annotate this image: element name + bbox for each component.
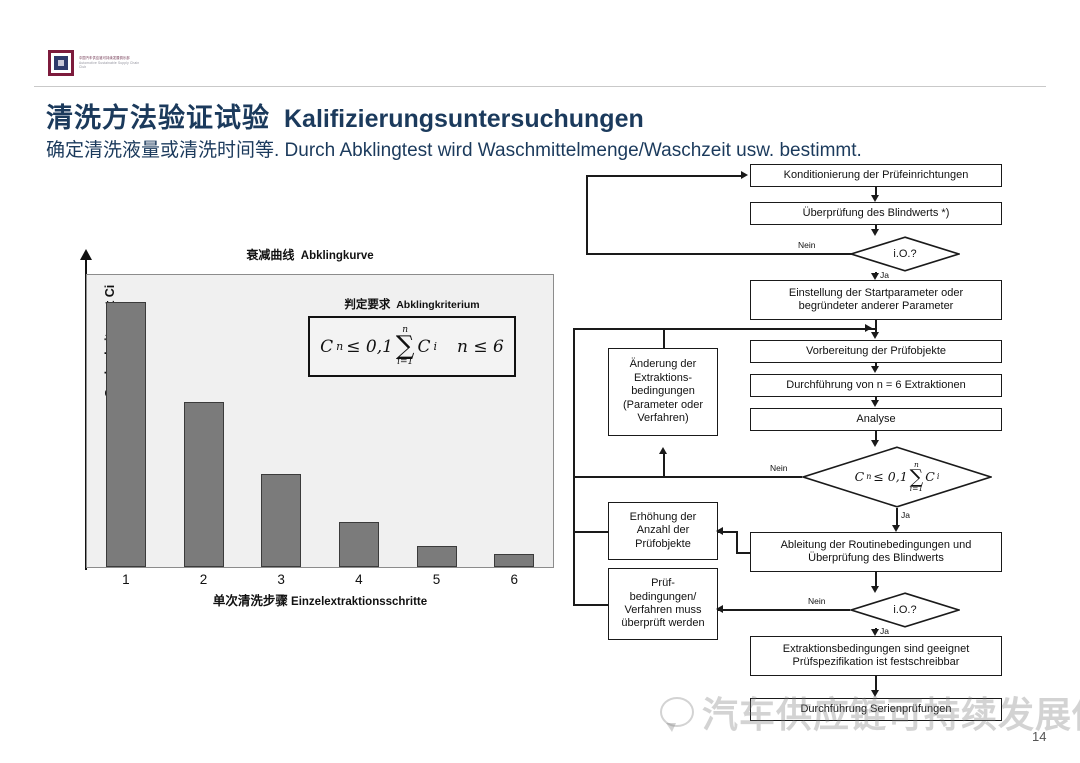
flow-box-pruefbed-line1: Prüf- <box>651 577 675 590</box>
qualification-flowchart: Konditionierung der Prüfeinrichtungen Üb… <box>560 158 1020 718</box>
speech-bubble-icon <box>660 697 694 727</box>
edge-label-ja-3: Ja <box>880 626 889 636</box>
bar-2 <box>184 402 224 567</box>
flow-box-pruefbed-line4: überprüft werden <box>621 617 704 630</box>
x-tick-2: 2 <box>165 572 243 587</box>
flow-box-startparameter: Einstellung der Startparameter oder begr… <box>750 280 1002 320</box>
arrowhead-icon <box>716 527 723 535</box>
edge-label-ja-2: Ja <box>901 510 910 520</box>
bar-slot <box>165 275 243 567</box>
flow-decision-io-2: i.O.? <box>850 592 960 628</box>
connector-d2-to-s1 <box>663 476 802 478</box>
page-title-de: Kalifizierungsuntersuchungen <box>284 105 644 133</box>
x-axis-label-de: Einzelextraktionsschritte <box>291 596 427 608</box>
arrowhead-icon <box>892 525 900 532</box>
flow-box-vorbereitung: Vorbereitung der Prüfobjekte <box>750 340 1002 363</box>
criterion-caption: 判定要求 Abklingkriterium <box>308 296 516 312</box>
edge-label-nein-2: Nein <box>770 463 787 473</box>
connector-left-rail-lower <box>573 476 575 604</box>
flow-box-aenderung-line3: bedingungen <box>631 385 695 398</box>
page-title-cn: 清洗方法验证试验 <box>46 103 270 133</box>
bar-3 <box>261 474 301 567</box>
arrowhead-icon <box>871 273 879 280</box>
flow-box-geeignet-line2: Prüfspezifikation ist festschreibbar <box>793 656 960 669</box>
summation-icon: n ∑ i=1 <box>910 461 924 492</box>
formula-ci-subscript: i <box>434 340 438 353</box>
flow-decision-io-1: i.O.? <box>850 236 960 272</box>
flow-box-pruefbedingungen-verfahren: Prüf- bedingungen/ Verfahren muss überpr… <box>608 568 718 640</box>
flow-formula-cn-symbol: C <box>855 469 865 484</box>
flow-box-routinebedingungen-line1: Ableitung der Routinebedingungen und <box>781 539 972 552</box>
bar-slot <box>87 275 165 567</box>
criterion-caption-de: Abklingkriterium <box>396 299 479 311</box>
flow-decision-criterion-formula: Cn ≤ 0,1 n ∑ i=1 Ci <box>802 446 992 508</box>
edge-label-nein-3: Nein <box>808 596 825 606</box>
arrowhead-icon <box>659 447 667 454</box>
flow-box-analyse: Analyse <box>750 408 1002 431</box>
flow-box-extraktionen: Durchführung von n = 6 Extraktionen <box>750 374 1002 397</box>
watermark: 汽车供应链可持续发展俱乐部 <box>660 688 1060 736</box>
flow-box-aenderung-extraktionsbedingungen: Änderung der Extraktions- bedingungen (P… <box>608 348 718 436</box>
connector-s1-bottom-v <box>663 454 665 476</box>
arrowhead-icon <box>871 586 879 593</box>
header-divider <box>34 86 1046 87</box>
criterion-condition: n ≤ 6 <box>457 337 504 357</box>
connector-b7-to-s2-stub <box>736 552 750 554</box>
connector-d3-nein-h <box>718 609 850 611</box>
x-tick-5: 5 <box>398 572 476 587</box>
flow-formula-ci-subscript: i <box>937 472 940 481</box>
flow-box-routinebedingungen-line2: Überprüfung des Blindwerts <box>808 552 944 565</box>
x-axis-ticks: 123456 <box>87 572 553 587</box>
page-number: 14 <box>1032 729 1046 744</box>
logo-mark-icon <box>48 50 74 76</box>
flow-box-startparameter-line1: Einstellung der Startparameter oder <box>789 287 963 300</box>
bar-6 <box>494 554 534 567</box>
x-tick-3: 3 <box>242 572 320 587</box>
connector-d2-b7 <box>896 508 898 526</box>
flow-formula-relation: ≤ 0,1 <box>873 469 907 484</box>
flow-formula-ci-symbol: C <box>925 469 935 484</box>
formula-ci-symbol: C <box>417 337 430 357</box>
edge-label-ja-1: Ja <box>880 270 889 280</box>
connector-s2-out <box>573 531 609 533</box>
edge-label-nein-1: Nein <box>798 240 815 250</box>
flow-box-pruefbed-line2: bedingungen/ <box>630 591 697 604</box>
x-tick-4: 4 <box>320 572 398 587</box>
page-title: 清洗方法验证试验Kalifizierungsuntersuchungen <box>46 96 644 135</box>
flow-box-erhoehung-line2: Anzahl der <box>637 524 690 537</box>
logo-text: 中国汽车供应链可持续发展俱乐部 Automotive Sustainable S… <box>79 56 144 70</box>
flow-box-startparameter-line2: begründeter anderer Parameter <box>799 300 954 313</box>
sum-lower-limit: i=1 <box>397 358 413 367</box>
connector-d1-nein-top <box>586 175 742 177</box>
flow-box-pruefbed-line3: Verfahren muss <box>624 604 701 617</box>
flow-box-erhoehung-anzahl: Erhöhung der Anzahl der Prüfobjekte <box>608 502 718 560</box>
criterion-formula: Cn ≤ 0,1 n ∑ i=1 Ci <box>320 326 437 366</box>
summation-icon: n ∑ i=1 <box>396 326 415 366</box>
connector-d1-nein-v <box>586 175 588 254</box>
flow-box-aenderung-line5: Verfahren) <box>637 412 688 425</box>
connector-d1-nein-h <box>586 253 852 255</box>
arrowhead-icon <box>871 400 879 407</box>
flow-box-aenderung-line2: Extraktions- <box>634 372 692 385</box>
chart-title-de: Abklingkurve <box>301 250 374 262</box>
formula-cn-subscript: n <box>336 340 343 353</box>
abklingkriterium-callout: 判定要求 Abklingkriterium Cn ≤ 0,1 n ∑ i=1 C… <box>308 296 516 377</box>
connector-b7-to-s2-v <box>736 531 738 552</box>
x-axis-label-cn: 单次清洗步骤 <box>213 594 288 608</box>
connector-s3-out <box>573 604 609 606</box>
arrowhead-icon <box>716 605 723 613</box>
chart-title: 衰减曲线 Abklingkurve <box>62 246 558 263</box>
watermark-text: 汽车供应链可持续发展俱乐部 <box>702 686 1080 738</box>
flow-box-geeignet-line1: Extraktionsbedingungen sind geeignet <box>783 643 970 656</box>
arrowhead-icon <box>871 195 879 202</box>
flow-box-blindwert-pruefung: Überprüfung des Blindwerts *) <box>750 202 1002 225</box>
connector-left-rail-upper <box>573 328 575 478</box>
org-logo: 中国汽车供应链可持续发展俱乐部 Automotive Sustainable S… <box>48 46 144 80</box>
chart-title-cn: 衰减曲线 <box>246 248 294 262</box>
criterion-formula-box: Cn ≤ 0,1 n ∑ i=1 Ci n ≤ 6 <box>308 316 516 377</box>
x-tick-1: 1 <box>87 572 165 587</box>
flow-sum-lower-limit: i=1 <box>910 485 923 493</box>
criterion-caption-cn: 判定要求 <box>344 299 390 311</box>
flow-decision-criterion: Cn ≤ 0,1 n ∑ i=1 Ci <box>802 446 992 508</box>
flow-box-aenderung-line1: Änderung der <box>630 358 697 371</box>
flow-box-erhoehung-line3: Prüfobjekte <box>635 538 691 551</box>
slide-canvas: 中国汽车供应链可持续发展俱乐部 Automotive Sustainable S… <box>0 0 1080 763</box>
x-axis-label: 单次清洗步骤 Einzelextraktionsschritte <box>86 590 554 609</box>
abklingkurve-chart: 衰减曲线 Abklingkurve Sauberkeitswert Ci 123… <box>62 246 558 616</box>
connector-s1-return-h <box>573 328 875 330</box>
flow-box-konditionierung: Konditionierung der Prüfeinrichtungen <box>750 164 1002 187</box>
bar-5 <box>417 546 457 567</box>
flow-box-aenderung-line4: (Parameter oder <box>623 399 703 412</box>
arrowhead-icon <box>865 324 872 332</box>
arrowhead-icon <box>741 171 748 179</box>
arrowhead-icon <box>871 229 879 236</box>
formula-cn-symbol: C <box>320 337 333 357</box>
arrowhead-icon <box>871 366 879 373</box>
arrowhead-icon <box>871 440 879 447</box>
arrowhead-icon <box>871 629 879 636</box>
logo-text-line2: Automotive Sustainable Supply Chain Club <box>79 61 144 70</box>
bar-4 <box>339 522 379 567</box>
connector-s1-top-v <box>663 328 665 348</box>
flow-box-extraktionsbedingungen-geeignet: Extraktionsbedingungen sind geeignet Prü… <box>750 636 1002 676</box>
bar-1 <box>106 302 146 567</box>
flow-decision-io-1-label: i.O.? <box>850 236 960 272</box>
flow-box-erhoehung-line1: Erhöhung der <box>630 511 697 524</box>
flow-decision-io-2-label: i.O.? <box>850 592 960 628</box>
formula-relation: ≤ 0,1 <box>346 337 393 357</box>
flow-box-routinebedingungen: Ableitung der Routinebedingungen und Übe… <box>750 532 1002 572</box>
arrowhead-icon <box>871 332 879 339</box>
x-tick-6: 6 <box>475 572 553 587</box>
flow-formula-cn-subscript: n <box>866 472 871 481</box>
